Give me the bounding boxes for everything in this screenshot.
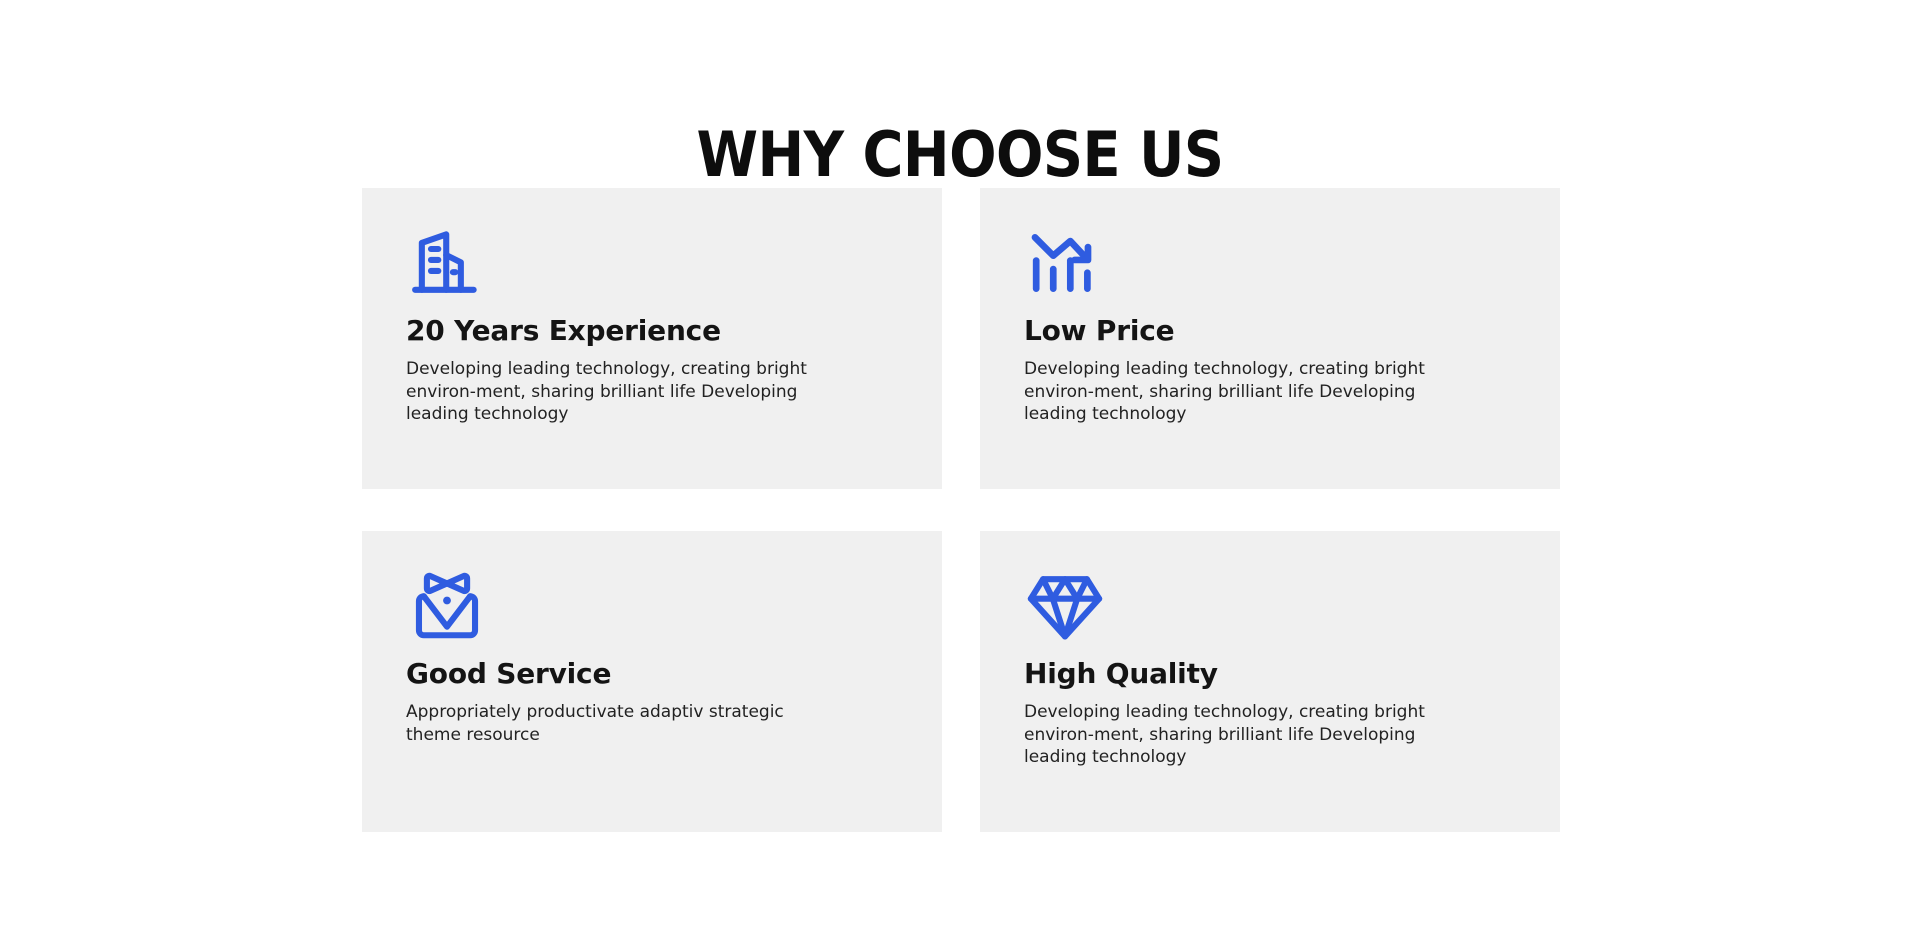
feature-card-low-price[interactable]: Low Price Developing leading technology,… <box>980 188 1560 489</box>
why-choose-us-section: WHY CHOOSE US 20 Years Experience <box>0 0 1920 930</box>
card-title: Low Price <box>1024 314 1516 348</box>
declining-bar-chart-icon <box>1024 224 1102 302</box>
page-title: WHY CHOOSE US <box>0 120 1920 190</box>
card-title: 20 Years Experience <box>406 314 898 348</box>
card-description: Developing leading technology, creating … <box>1024 701 1456 769</box>
card-title: High Quality <box>1024 657 1516 691</box>
tuxedo-bowtie-icon <box>408 567 486 645</box>
feature-card-good-service[interactable]: Good Service Appropriately productivate … <box>362 531 942 832</box>
diamond-gem-icon <box>1026 567 1104 645</box>
feature-card-experience[interactable]: 20 Years Experience Developing leading t… <box>362 188 942 489</box>
card-title: Good Service <box>406 657 898 691</box>
office-building-icon <box>406 224 484 302</box>
card-description: Appropriately productivate adaptiv strat… <box>406 701 838 746</box>
feature-card-high-quality[interactable]: High Quality Developing leading technolo… <box>980 531 1560 832</box>
feature-card-grid: 20 Years Experience Developing leading t… <box>362 188 1560 832</box>
card-description: Developing leading technology, creating … <box>1024 358 1456 426</box>
card-description: Developing leading technology, creating … <box>406 358 838 426</box>
